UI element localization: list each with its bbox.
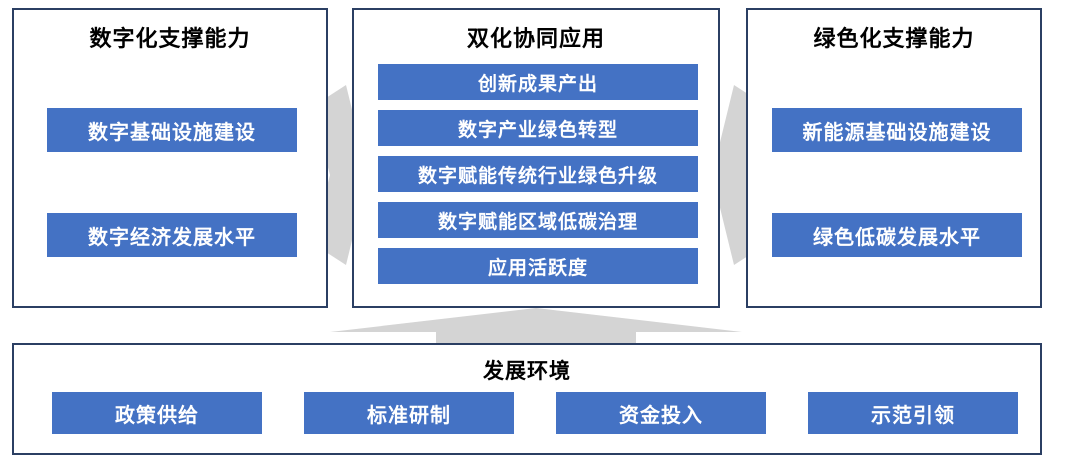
item-box-standard-development[interactable]: 标准研制: [304, 392, 514, 434]
item-box-digital-economy-level[interactable]: 数字经济发展水平: [47, 213, 297, 257]
panel-development-environment: 发展环境 政策供给 标准研制 资金投入 示范引领: [12, 343, 1042, 455]
item-box-digital-infrastructure[interactable]: 数字基础设施建设: [47, 108, 297, 152]
item-box-capital-investment[interactable]: 资金投入: [556, 392, 766, 434]
panel-title-dual-transformation-synergy-application: 双化协同应用: [354, 26, 718, 52]
item-box-policy-supply[interactable]: 政策供给: [52, 392, 262, 434]
panel-title-digital-support-capability: 数字化支撑能力: [14, 26, 326, 52]
item-box-green-low-carbon-level[interactable]: 绿色低碳发展水平: [772, 213, 1022, 257]
panel-digital-support-capability: 数字化支撑能力 数字基础设施建设 数字经济发展水平: [12, 8, 328, 308]
panel-dual-transformation-synergy-application: 双化协同应用 创新成果产出 数字产业绿色转型 数字赋能传统行业绿色升级 数字赋能…: [352, 8, 720, 308]
panel-green-support-capability: 绿色化支撑能力 新能源基础设施建设 绿色低碳发展水平: [746, 8, 1042, 308]
diagram-canvas: 数字化支撑能力 数字基础设施建设 数字经济发展水平 双化协同应用 创新成果产出 …: [0, 0, 1080, 465]
item-box-innovation-output[interactable]: 创新成果产出: [378, 64, 698, 100]
chevron-up-arrow-icon: [330, 306, 742, 346]
item-box-demonstration-leadership[interactable]: 示范引领: [808, 392, 1018, 434]
item-box-traditional-industry-green-upgrade[interactable]: 数字赋能传统行业绿色升级: [378, 156, 698, 192]
panel-title-green-support-capability: 绿色化支撑能力: [748, 26, 1040, 52]
item-box-new-energy-infrastructure[interactable]: 新能源基础设施建设: [772, 108, 1022, 152]
item-box-digital-industry-green-transformation[interactable]: 数字产业绿色转型: [378, 110, 698, 146]
item-box-regional-low-carbon-governance[interactable]: 数字赋能区域低碳治理: [378, 202, 698, 238]
item-box-application-activity[interactable]: 应用活跃度: [378, 248, 698, 284]
panel-title-development-environment: 发展环境: [14, 359, 1040, 385]
